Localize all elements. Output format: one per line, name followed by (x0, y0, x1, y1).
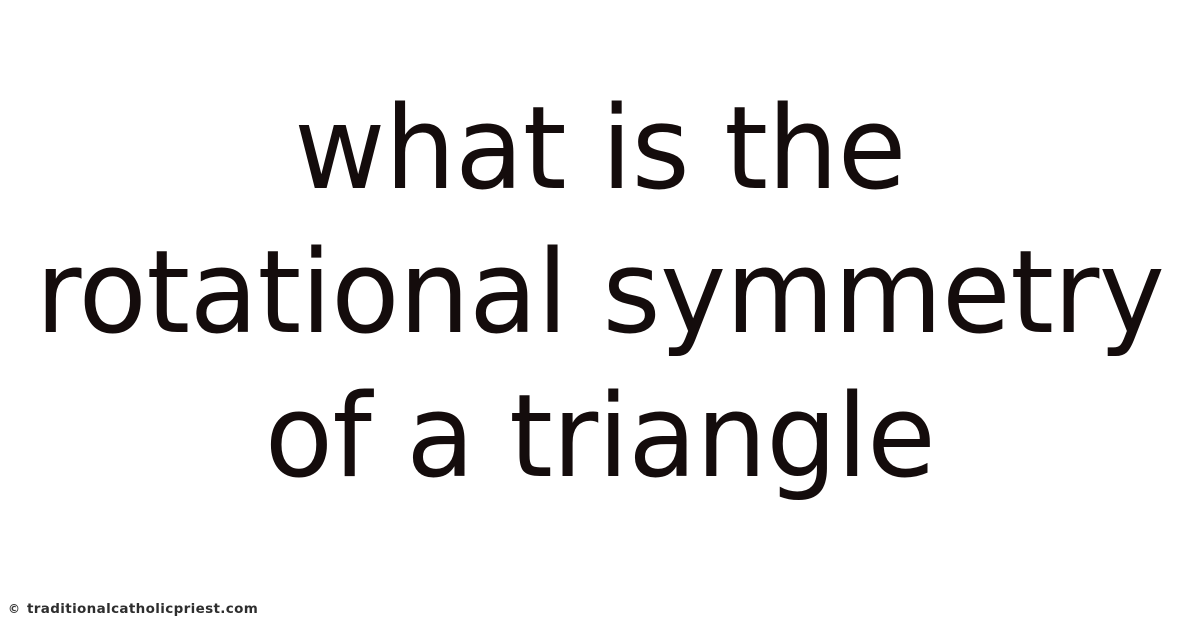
page-title: what is the rotational symmetry of a tri… (34, 77, 1167, 509)
headline-container: what is the rotational symmetry of a tri… (0, 0, 1200, 586)
copyright-icon: © (8, 603, 20, 615)
text-card: what is the rotational symmetry of a tri… (0, 0, 1200, 628)
footer-watermark: © traditionalcatholicpriest.com (8, 603, 258, 617)
footer-domain-label: traditionalcatholicpriest.com (27, 603, 258, 617)
